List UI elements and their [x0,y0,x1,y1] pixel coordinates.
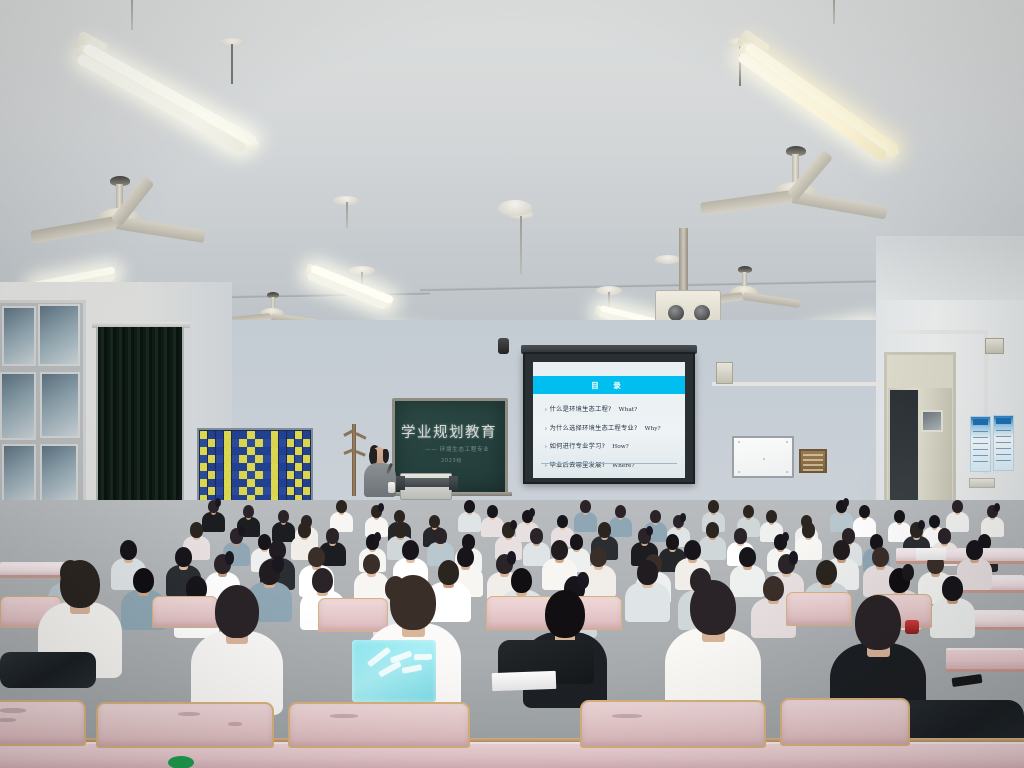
seating-chart-card [216,455,223,463]
seating-chart-card [208,431,215,439]
seating-chart-card [255,439,262,447]
window-pane [40,444,78,502]
audience-member-head [734,528,747,544]
seating-chart-card [255,471,262,479]
seating-chart-card [263,487,270,495]
audience-member-head [739,547,756,567]
audience-member-hair-bun [789,551,798,565]
seating-chart-card [232,471,239,479]
audience-member-hair-bun [680,513,686,522]
podium [400,473,452,500]
seating-chart-card [303,479,310,487]
audience-member-hair-bun [902,564,914,581]
seating-chart-card [295,479,302,487]
seating-chart-card [239,487,246,495]
window-pane [0,372,36,440]
audience-member-head [690,580,736,635]
seating-chart-card [232,463,239,471]
audience-member-hair-bun [994,503,1000,512]
seating-chart-card [255,447,262,455]
chalkboard-subtitle-1: —— 环境生态工程专业 [425,445,511,453]
audience-member-head [363,554,380,574]
seating-chart-card [224,439,231,447]
slide-item-text-cn: 毕业后去哪里发展? [550,460,605,469]
smoke-detector [498,200,532,216]
seating-chart-card [255,455,262,463]
seating-chart-card [295,439,302,447]
audience-member-head [580,500,591,513]
seating-chart-card [247,463,254,471]
slide-header-band: 目 录 [533,376,685,394]
slide-item-text-en: Why? [645,426,661,432]
seating-chart-card [200,471,207,479]
audience-member-head [120,540,137,560]
seating-chart-card [255,479,262,487]
ceiling-mount-disc [655,255,681,264]
seating-chart-card [208,463,215,471]
seating-chart-card [208,479,215,487]
seating-chart-card [263,455,270,463]
light-hanger-wire [231,44,233,84]
chair-back [152,596,218,628]
seating-chart-card [263,463,270,471]
audience-member-head [530,528,543,544]
seating-chart-card [208,471,215,479]
slide-item: ›为什么选择环境生态工程专业?Why? [545,423,677,432]
slide-item-text-cn: 为什么选择环境生态工程专业? [550,423,638,432]
window-pane [2,444,36,504]
audience-member-head [952,500,963,513]
audience-member-head [557,515,568,528]
seating-chart-card [216,471,223,479]
projector-screen: 目 录 ›什么是环境生态工程?What?›为什么选择环境生态工程专业?Why?›… [523,352,695,484]
audience-member-head [545,590,585,638]
seating-chart-card [247,447,254,455]
seating-chart-card [271,487,278,495]
wall-conduit [712,382,902,386]
audience-member-head [133,568,154,593]
audience-member-hair-bun [843,498,849,507]
seating-chart-card [208,455,215,463]
chair-back [318,598,388,632]
audience-member-head [190,522,203,538]
seating-chart-card [208,447,215,455]
wall-conduit [884,330,988,334]
seating-chart-card [295,487,302,495]
seating-chart-card [279,455,286,463]
seating-chart-card [271,439,278,447]
notebook [492,671,557,691]
audience-member-head [394,522,407,538]
tshirt-graphic [352,640,436,702]
seating-chart-card [287,431,294,439]
chair-back [580,700,766,748]
seating-chart-card [303,471,310,479]
chalkboard-title: 学业规划教育 [401,421,505,442]
audience-member-head [929,515,940,528]
audience-member-torso [625,582,669,622]
seating-chart-card [208,487,215,495]
seating-chart-card [247,479,254,487]
audience-member-head [308,547,325,567]
seating-chart-card [303,463,310,471]
audience-member-head [402,540,419,560]
seating-chart-card [271,455,278,463]
seating-chart-card [295,455,302,463]
seating-chart-card [287,439,294,447]
slide-item-marker: › [545,407,547,413]
audience-member-head [855,595,901,650]
audience-member-head [60,560,100,608]
audience-member-head [684,540,701,560]
audience-member-head [666,534,679,550]
audience-member-head [598,522,611,538]
audience-member-head [872,547,889,567]
slide-content-list: ›什么是环境生态工程?What?›为什么选择环境生态工程专业?Why?›如何进行… [545,404,677,478]
right-wall-upper [876,236,1024,306]
chair-back [288,702,470,748]
seating-chart-card [303,487,310,495]
audience-member-head [464,500,475,513]
seating-chart-card [279,447,286,455]
blackout-curtain[interactable] [96,327,184,527]
slide-header-title: 目 录 [591,380,627,391]
audience-member-head [637,560,658,585]
audience-member-head [708,500,719,513]
audience-member-head [650,510,661,523]
audience-member-hair-bun [225,551,234,565]
audience-member-head [434,528,447,544]
audience-member-head [763,576,784,601]
wall-speaker [716,362,733,384]
audience-member-head [312,568,333,593]
seating-chart-card [287,479,294,487]
seating-chart-card [303,455,310,463]
security-camera [498,338,509,354]
podium-side [449,476,458,490]
seating-chart-card [232,447,239,455]
seating-chart-card [200,455,207,463]
audience-member-head [966,540,983,560]
seating-chart-card [303,439,310,447]
seating-chart-card [216,479,223,487]
seating-chart-card [216,431,223,439]
seating-chart-card [303,431,310,439]
seating-chart-card [287,471,294,479]
wall-sign [969,478,995,488]
seating-chart-card [224,479,231,487]
seating-chart-card [232,479,239,487]
seating-chart-card [224,463,231,471]
audience-member-head [511,568,532,593]
chair-back [0,700,86,746]
window-pane [38,304,80,366]
chair-back [786,592,852,626]
seating-chart-card [279,463,286,471]
chair-back [96,702,274,748]
audience-member-head [438,560,459,585]
cup-on-podium [388,482,395,493]
seating-chart-card [287,455,294,463]
seating-chart-card [239,431,246,439]
slide-item-text-en: How? [612,444,629,450]
audience-member-head [175,547,192,567]
window-pane [2,306,36,366]
audience-member-head [743,505,754,518]
seating-chart-card [200,463,207,471]
audience-member-head [938,528,951,544]
audience-member-hair-bun [272,556,284,573]
classroom-photo: 学业规划教育 —— 环境生态工程专业 2023级 目 录 ›什么是环境生态工程?… [0,0,1024,768]
audience-member-torso [930,598,974,638]
seating-chart-card [295,463,302,471]
seating-chart-card [247,487,254,495]
slide-item: ›毕业后去哪里发展?Where? [545,460,677,469]
audience-member-head [766,510,777,523]
seating-chart-card [232,431,239,439]
seating-chart-card [279,471,286,479]
audience-member-hair-bun [529,508,535,517]
audience-member-head [336,500,347,513]
seating-chart-card [263,447,270,455]
seating-chart-card [271,431,278,439]
seating-chart-card [224,455,231,463]
audience-member-head [243,505,254,518]
seating-chart-card [200,431,207,439]
audience-member-head [457,547,474,567]
audience-member-head [390,575,436,630]
seating-chart-card [216,447,223,455]
seating-chart-card [232,439,239,447]
seating-chart-card [224,487,231,495]
seating-chart-card [224,447,231,455]
audience-member-head [278,510,289,523]
seating-chart-card [255,463,262,471]
slide-item: ›如何进行专业学习?How? [545,441,677,450]
seating-chart-card [247,471,254,479]
seating-chart-card [216,463,223,471]
seating-chart-card [239,471,246,479]
seating-chart-card [239,447,246,455]
slide-item-text-en: What? [619,407,638,413]
door-window [921,410,943,432]
slide-item-marker: › [545,444,547,450]
audience-member-head [816,560,837,585]
seating-chart-card [208,439,215,447]
seating-chart-card [255,431,262,439]
seating-chart-card [295,471,302,479]
seating-chart-card [200,479,207,487]
chalkboard-subtitle-2: 2023级 [441,457,462,464]
seating-chart-card [216,439,223,447]
seating-chart-card [200,447,207,455]
seating-chart-card [224,431,231,439]
seating-chart-card [303,447,310,455]
seating-chart-card [247,431,254,439]
audience-member-head [894,510,905,523]
audience-member-head [487,505,498,518]
seating-chart-card [295,447,302,455]
audience-member-head [298,522,311,538]
seating-chart-card [239,463,246,471]
drink-can [905,620,919,634]
seating-chart-card [200,439,207,447]
slide-item-text-cn: 如何进行专业学习? [550,441,605,450]
seating-chart-card [200,487,207,495]
audience-member-hair-bun [378,503,384,512]
audience-member-head [802,522,815,538]
audience-member-head [833,540,850,560]
audience-member-head [215,585,259,638]
seating-chart-card [255,487,262,495]
wall-poster [970,416,991,472]
light-hanger-rod [131,0,133,30]
seating-chart-card [263,471,270,479]
seating-chart-card [232,487,239,495]
seating-chart-card [287,447,294,455]
seating-chart-card [239,455,246,463]
seating-chart-card [279,487,286,495]
seating-chart-card [271,447,278,455]
slide-item-marker: › [545,426,547,432]
notebook [916,548,946,560]
audience-member-hair-bun [507,551,516,565]
desk-sticker [168,756,194,768]
seating-chart-card [263,431,270,439]
audience-member-head [859,505,870,518]
seating-chart-card [287,463,294,471]
notice-board [799,449,827,473]
seating-chart-card [247,455,254,463]
desk-row [946,648,1024,672]
wall-speaker [985,338,1004,354]
seating-chart-card [232,455,239,463]
podium-control-panel[interactable] [404,478,450,487]
slide-item-text-cn: 什么是环境生态工程? [550,404,612,413]
audience-member-head [429,515,440,528]
audience-member-head [706,522,719,538]
backpack [0,652,96,688]
seating-chart-card [287,487,294,495]
light-hanger-rod [346,202,348,228]
chair-back [780,698,910,746]
podium-side [396,476,405,490]
seating-chart-card [271,463,278,471]
projector-mount-pole [679,228,688,292]
audience-member-head [570,534,583,550]
seating-chart-card [224,471,231,479]
seating-chart-card [247,439,254,447]
seating-chart-card [295,431,302,439]
seating-chart-card [263,439,270,447]
seating-chart-card [239,439,246,447]
seating-chart-card [263,479,270,487]
seating-chart-card [271,479,278,487]
seating-chart-card [216,487,223,495]
seating-chart-card [239,479,246,487]
audience-member-hair-bun [577,572,589,589]
audience-member-head [615,505,626,518]
seating-chart-card [279,439,286,447]
seating-chart-card [279,479,286,487]
wall-poster [993,415,1014,471]
seating-chart-card [271,471,278,479]
slide-surface: 目 录 ›什么是环境生态工程?What?›为什么选择环境生态工程专业?Why?›… [533,362,685,478]
audience-member-head [942,576,963,601]
slide-item: ›什么是环境生态工程?What? [545,404,677,413]
audience-member-hair-bun [215,498,221,507]
light-hanger-rod [833,0,835,24]
audience-member-head [551,540,568,560]
window-pane [40,372,80,438]
seating-chart-card [279,431,286,439]
audience-member-head [590,547,607,567]
audience-member-head [326,528,339,544]
whiteboard [732,436,794,478]
light-hanger-rod [520,216,522,274]
slide-divider [541,463,677,464]
